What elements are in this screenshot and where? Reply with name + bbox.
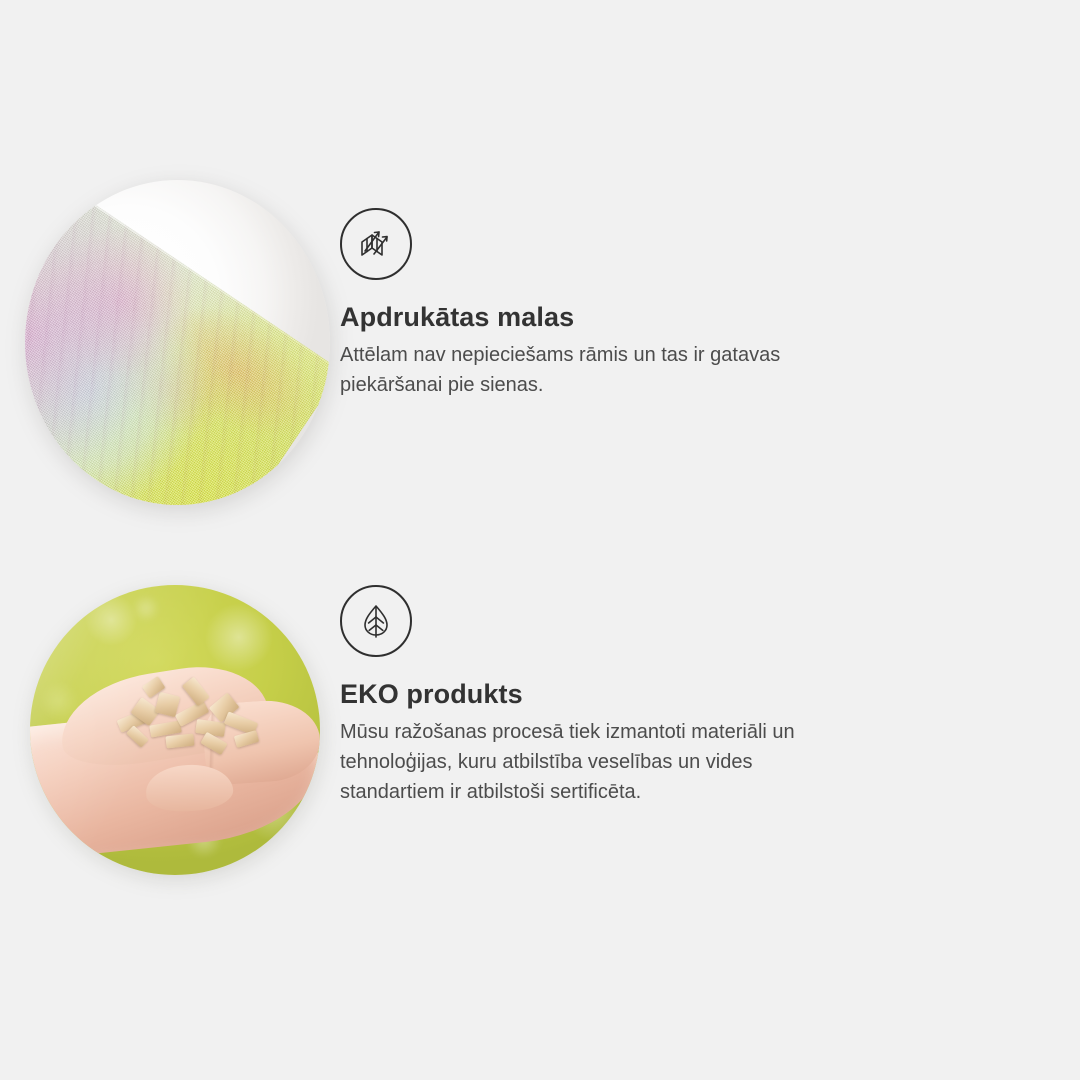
feature-description: Attēlam nav nepieciešams rāmis un tas ir… — [340, 340, 830, 400]
canvas-artwork-face — [25, 186, 330, 505]
feature-panel: Apdrukātas malas Attēlam nav nepieciešam… — [0, 0, 1080, 1080]
canvas-weave-texture — [25, 186, 330, 505]
printed-edges-icon — [340, 208, 412, 280]
wood-chips-photo — [0, 565, 340, 915]
canvas-corner-photo — [0, 160, 340, 510]
printed-edges-copy: Apdrukātas malas Attēlam nav nepieciešam… — [340, 160, 860, 400]
feature-eco-product: EKO produkts Mūsu ražošanas procesā tiek… — [0, 565, 860, 915]
eco-product-copy: EKO produkts Mūsu ražošanas procesā tiek… — [340, 565, 860, 807]
feature-title: Apdrukātas malas — [340, 302, 860, 333]
leaf-icon — [340, 585, 412, 657]
wood-chips-circle — [30, 585, 320, 875]
feature-printed-edges: Apdrukātas malas Attēlam nav nepieciešam… — [0, 160, 860, 510]
feature-title: EKO produkts — [340, 679, 860, 710]
canvas-corner-circle — [25, 180, 330, 505]
printed-edges-glyph — [356, 224, 396, 264]
feature-description: Mūsu ražošanas procesā tiek izmantoti ma… — [340, 717, 830, 807]
leaf-glyph — [356, 601, 396, 641]
wood-chip-pile — [111, 672, 273, 771]
canvas-body — [25, 186, 330, 505]
